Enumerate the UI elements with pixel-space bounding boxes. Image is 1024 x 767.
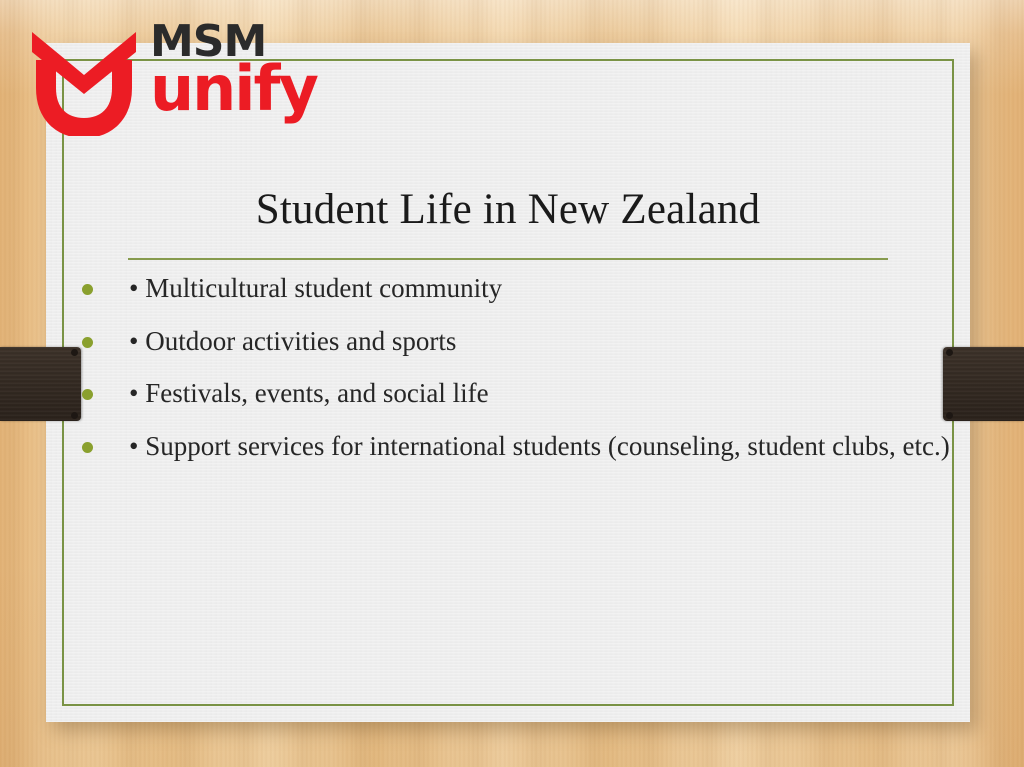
slide-canvas: Student Life in New Zealand • Multicultu…	[0, 0, 1024, 767]
logo-unify-text: unify	[150, 58, 317, 120]
bullet-dot-icon	[82, 442, 93, 453]
title-underline-rule	[128, 258, 888, 260]
list-item-label: • Support services for international stu…	[129, 429, 950, 465]
list-item: • Festivals, events, and social life	[82, 376, 1024, 412]
bullet-dot-icon	[82, 389, 93, 400]
logo-wordmark: MSM unify	[150, 20, 317, 120]
bullet-dot-icon	[82, 284, 93, 295]
list-item-label: • Outdoor activities and sports	[129, 324, 456, 360]
msm-unify-u-mark-icon	[22, 18, 147, 136]
page-title: Student Life in New Zealand	[46, 185, 970, 234]
msm-unify-logo: MSM unify	[22, 18, 342, 138]
list-item: • Multicultural student community	[82, 271, 1024, 307]
bullet-dot-icon	[82, 337, 93, 348]
list-item: • Outdoor activities and sports	[82, 324, 1024, 360]
bullet-list: • Multicultural student community • Outd…	[82, 271, 1024, 482]
slide-content: Student Life in New Zealand • Multicultu…	[46, 43, 970, 722]
list-item-label: • Multicultural student community	[129, 271, 502, 307]
list-item: • Support services for international stu…	[82, 429, 1024, 465]
list-item-label: • Festivals, events, and social life	[129, 376, 489, 412]
